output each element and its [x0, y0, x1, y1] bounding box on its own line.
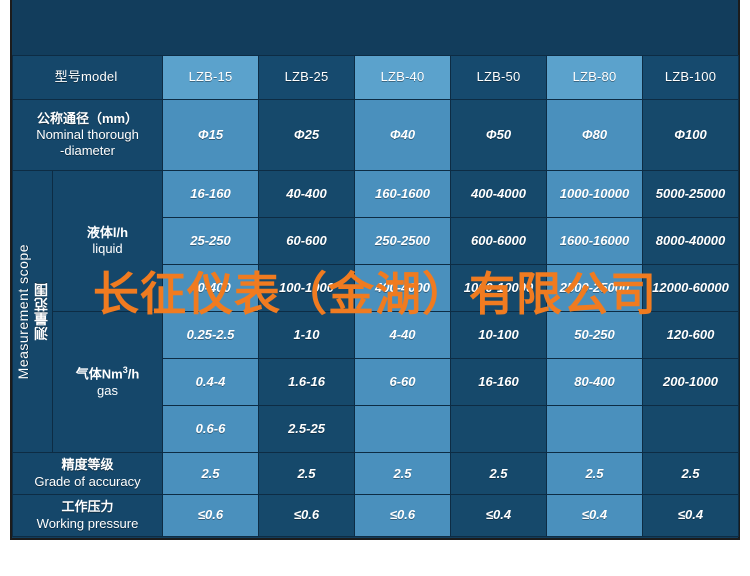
cell-liquid2-lzb-80: 1600-16000	[547, 218, 643, 265]
cell-gas3-lzb-40	[355, 406, 451, 453]
row-label-gas: 气体Nm3/h gas	[53, 312, 163, 453]
cell-gas2-lzb-100: 200-1000	[643, 359, 739, 406]
cell-gas1-lzb-50: 10-100	[451, 312, 547, 359]
measurement-scope-label-en: Measurement scope	[16, 244, 31, 379]
cell-accuracy-lzb-40: 2.5	[355, 453, 451, 495]
cell-pressure-lzb-40: ≤0.6	[355, 495, 451, 537]
cell-diameter-lzb-80: Φ80	[547, 99, 643, 170]
cell-accuracy-lzb-80: 2.5	[547, 453, 643, 495]
cell-gas1-lzb-80: 50-250	[547, 312, 643, 359]
cell-liquid1-lzb-50: 400-4000	[451, 171, 547, 218]
cell-diameter-lzb-25: Φ25	[259, 99, 355, 170]
header-model-lzb-15: LZB-15	[163, 56, 259, 100]
cell-liquid1-lzb-80: 1000-10000	[547, 171, 643, 218]
header-model-lzb-50: LZB-50	[451, 56, 547, 100]
row-label-gas-en: gas	[56, 383, 159, 399]
row-label-liquid: 液体l/h liquid	[53, 171, 163, 312]
row-label-nominal-diameter: 公称通径（mm） Nominal thorough -diameter	[13, 99, 163, 170]
cell-accuracy-lzb-15: 2.5	[163, 453, 259, 495]
cell-pressure-lzb-50: ≤0.4	[451, 495, 547, 537]
cell-diameter-lzb-100: Φ100	[643, 99, 739, 170]
cell-liquid3-lzb-50: 1000-10000	[451, 265, 547, 312]
row-label-liquid-en: liquid	[56, 241, 159, 257]
cell-liquid3-lzb-40: 400-4000	[355, 265, 451, 312]
row-label-working-pressure-en: Working pressure	[16, 516, 159, 532]
cell-liquid2-lzb-15: 25-250	[163, 218, 259, 265]
table-row-model: 型号model LZB-15 LZB-25 LZB-40 LZB-50 LZB-…	[13, 56, 739, 100]
row-label-gas-cn: 气体Nm3/h	[56, 365, 159, 383]
row-label-nominal-diameter-en2: -diameter	[16, 143, 159, 159]
cell-gas3-lzb-100	[643, 406, 739, 453]
cell-accuracy-lzb-100: 2.5	[643, 453, 739, 495]
cell-gas3-lzb-15: 0.6-6	[163, 406, 259, 453]
cell-liquid3-lzb-15: 40-400	[163, 265, 259, 312]
row-label-working-pressure-cn: 工作压力	[16, 499, 159, 515]
header-model-label: 型号model	[13, 56, 163, 100]
cell-liquid2-lzb-50: 600-6000	[451, 218, 547, 265]
row-label-gas-cn-main: 气体Nm	[76, 367, 123, 382]
row-label-gas-cn-tail: /h	[128, 367, 140, 382]
cell-liquid3-lzb-25: 100-1000	[259, 265, 355, 312]
row-label-nominal-diameter-cn: 公称通径（mm）	[16, 111, 159, 127]
cell-diameter-lzb-50: Φ50	[451, 99, 547, 170]
cell-pressure-lzb-25: ≤0.6	[259, 495, 355, 537]
table-row-liquid-1: Measurement scope 测量范围 液体l/h liquid 16-1…	[13, 171, 739, 218]
header-model-lzb-40: LZB-40	[355, 56, 451, 100]
screenshot-root: 型号model LZB-15 LZB-25 LZB-40 LZB-50 LZB-…	[0, 0, 750, 576]
cell-gas1-lzb-15: 0.25-2.5	[163, 312, 259, 359]
cell-pressure-lzb-15: ≤0.6	[163, 495, 259, 537]
cell-gas2-lzb-15: 0.4-4	[163, 359, 259, 406]
header-model-lzb-100: LZB-100	[643, 56, 739, 100]
cell-liquid3-lzb-100: 12000-60000	[643, 265, 739, 312]
row-label-accuracy: 精度等级 Grade of accuracy	[13, 453, 163, 495]
row-label-accuracy-cn: 精度等级	[16, 457, 159, 473]
row-label-liquid-cn: 液体l/h	[56, 225, 159, 241]
cell-pressure-lzb-100: ≤0.4	[643, 495, 739, 537]
row-label-accuracy-en: Grade of accuracy	[16, 474, 159, 490]
cell-accuracy-lzb-50: 2.5	[451, 453, 547, 495]
cell-diameter-lzb-40: Φ40	[355, 99, 451, 170]
table-row-accuracy: 精度等级 Grade of accuracy 2.5 2.5 2.5 2.5 2…	[13, 453, 739, 495]
row-label-working-pressure: 工作压力 Working pressure	[13, 495, 163, 537]
cell-liquid2-lzb-40: 250-2500	[355, 218, 451, 265]
cell-gas2-lzb-80: 80-400	[547, 359, 643, 406]
cell-diameter-lzb-15: Φ15	[163, 99, 259, 170]
table-row-nominal-diameter: 公称通径（mm） Nominal thorough -diameter Φ15 …	[13, 99, 739, 170]
cell-liquid1-lzb-15: 16-160	[163, 171, 259, 218]
cell-gas1-lzb-25: 1-10	[259, 312, 355, 359]
cell-liquid1-lzb-40: 160-1600	[355, 171, 451, 218]
spec-table-wrapper: 型号model LZB-15 LZB-25 LZB-40 LZB-50 LZB-…	[12, 55, 738, 537]
cell-gas1-lzb-100: 120-600	[643, 312, 739, 359]
table-row-gas-1: 气体Nm3/h gas 0.25-2.5 1-10 4-40 10-100 50…	[13, 312, 739, 359]
cell-gas2-lzb-25: 1.6-16	[259, 359, 355, 406]
header-model-lzb-80: LZB-80	[547, 56, 643, 100]
cell-liquid1-lzb-25: 40-400	[259, 171, 355, 218]
cell-pressure-lzb-80: ≤0.4	[547, 495, 643, 537]
table-row-working-pressure: 工作压力 Working pressure ≤0.6 ≤0.6 ≤0.6 ≤0.…	[13, 495, 739, 537]
header-model-lzb-25: LZB-25	[259, 56, 355, 100]
cell-gas3-lzb-80	[547, 406, 643, 453]
cell-liquid3-lzb-80: 2500-25000	[547, 265, 643, 312]
cell-gas2-lzb-50: 16-160	[451, 359, 547, 406]
measurement-scope-label-cn: 测量范围	[34, 244, 49, 379]
cell-liquid2-lzb-100: 8000-40000	[643, 218, 739, 265]
cell-gas3-lzb-25: 2.5-25	[259, 406, 355, 453]
cell-gas2-lzb-40: 6-60	[355, 359, 451, 406]
specification-table: 型号model LZB-15 LZB-25 LZB-40 LZB-50 LZB-…	[12, 55, 739, 537]
row-label-measurement-scope: Measurement scope 测量范围	[13, 171, 53, 453]
cell-liquid2-lzb-25: 60-600	[259, 218, 355, 265]
cell-liquid1-lzb-100: 5000-25000	[643, 171, 739, 218]
row-label-nominal-diameter-en1: Nominal thorough	[16, 127, 159, 143]
cell-gas1-lzb-40: 4-40	[355, 312, 451, 359]
cell-accuracy-lzb-25: 2.5	[259, 453, 355, 495]
cell-gas3-lzb-50	[451, 406, 547, 453]
